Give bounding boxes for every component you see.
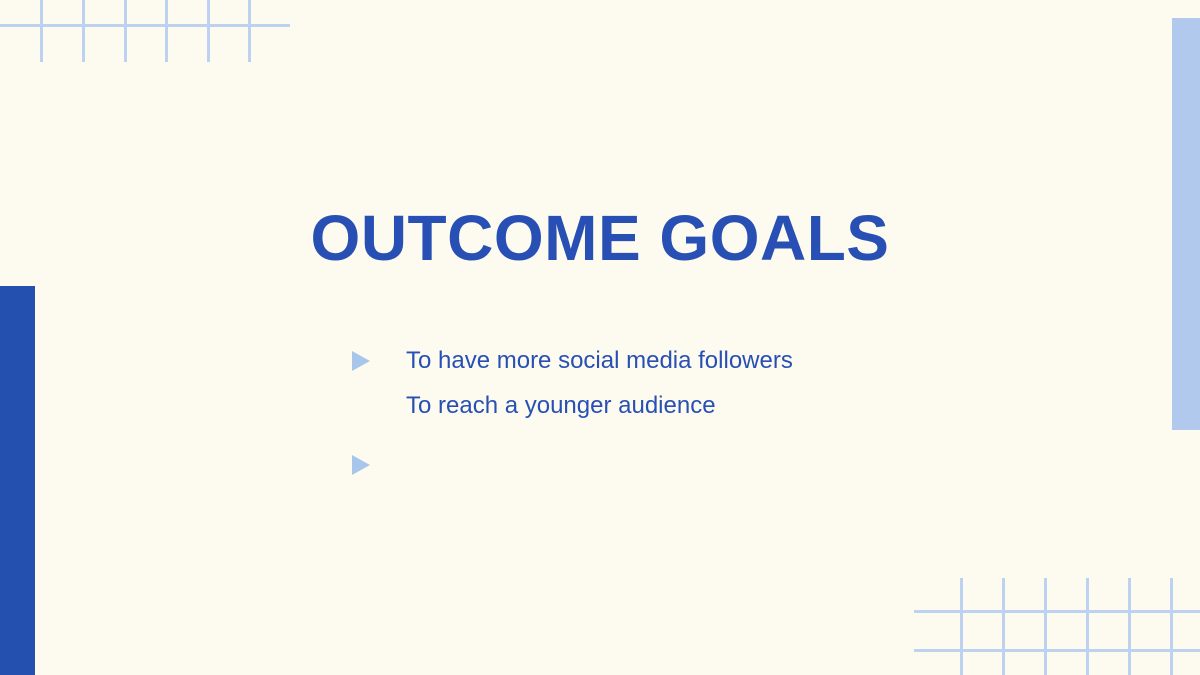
outcome-goals-list: To have more social media followers To r… [352,345,1052,494]
triangle-bullet-icon [352,345,406,376]
page-title: OUTCOME GOALS [0,202,1200,276]
list-item: To reach a younger audience [352,390,1052,435]
triangle-bullet-icon [352,449,406,480]
list-item [352,449,1052,494]
list-item-label: To reach a younger audience [406,390,716,421]
triangle-bullet-icon-hidden [352,390,406,421]
list-item-label: To have more social media followers [406,345,793,376]
slide-content: OUTCOME GOALS To have more social media … [0,0,1200,675]
slide-canvas: OUTCOME GOALS To have more social media … [0,0,1200,675]
list-item: To have more social media followers [352,345,1052,390]
